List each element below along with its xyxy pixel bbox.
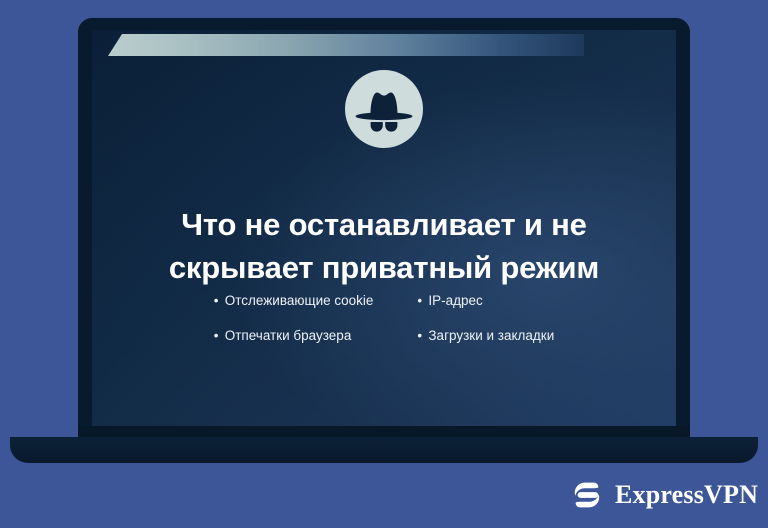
screen-glare-stripe xyxy=(108,34,584,56)
list-item-label: IP-адрес xyxy=(428,292,482,310)
page-title-line-2: скрывает приватный режим xyxy=(169,250,599,285)
page-title-line-1: Что не останавливает и не xyxy=(181,207,586,242)
bullet-marker-icon: • xyxy=(214,327,225,345)
bullet-lists: • Отслеживающие cookie • Отпечатки брауз… xyxy=(92,292,676,345)
bullet-list-right: • IP-адрес • Загрузки и закладки xyxy=(417,292,554,345)
laptop-base xyxy=(10,437,758,463)
slide-canvas: Что не останавливает и не скрывает прива… xyxy=(0,0,768,528)
list-item-label: Отпечатки браузера xyxy=(225,327,352,345)
bullet-marker-icon: • xyxy=(214,292,225,310)
bullet-list-left: • Отслеживающие cookie • Отпечатки брауз… xyxy=(214,292,374,345)
list-item: • IP-адрес xyxy=(417,292,554,310)
laptop-mockup: Что не останавливает и не скрывает прива… xyxy=(0,0,768,470)
incognito-icon xyxy=(344,69,424,149)
bullet-marker-icon: • xyxy=(417,327,428,345)
list-item: • Отслеживающие cookie xyxy=(214,292,374,310)
expressvpn-e-logo-icon xyxy=(568,476,606,514)
slide-content: Что не останавливает и не скрывает прива… xyxy=(92,30,676,426)
list-item: • Отпечатки браузера xyxy=(214,327,374,345)
expressvpn-logo: ExpressVPN xyxy=(568,476,758,514)
list-item: • Загрузки и закладки xyxy=(417,327,554,345)
bullet-marker-icon: • xyxy=(417,292,428,310)
laptop-display: Что не останавливает и не скрывает прива… xyxy=(92,30,676,426)
page-title: Что не останавливает и не скрывает прива… xyxy=(112,203,656,289)
list-item-label: Загрузки и закладки xyxy=(428,327,554,345)
expressvpn-wordmark: ExpressVPN xyxy=(615,482,758,508)
list-item-label: Отслеживающие cookie xyxy=(225,292,374,310)
